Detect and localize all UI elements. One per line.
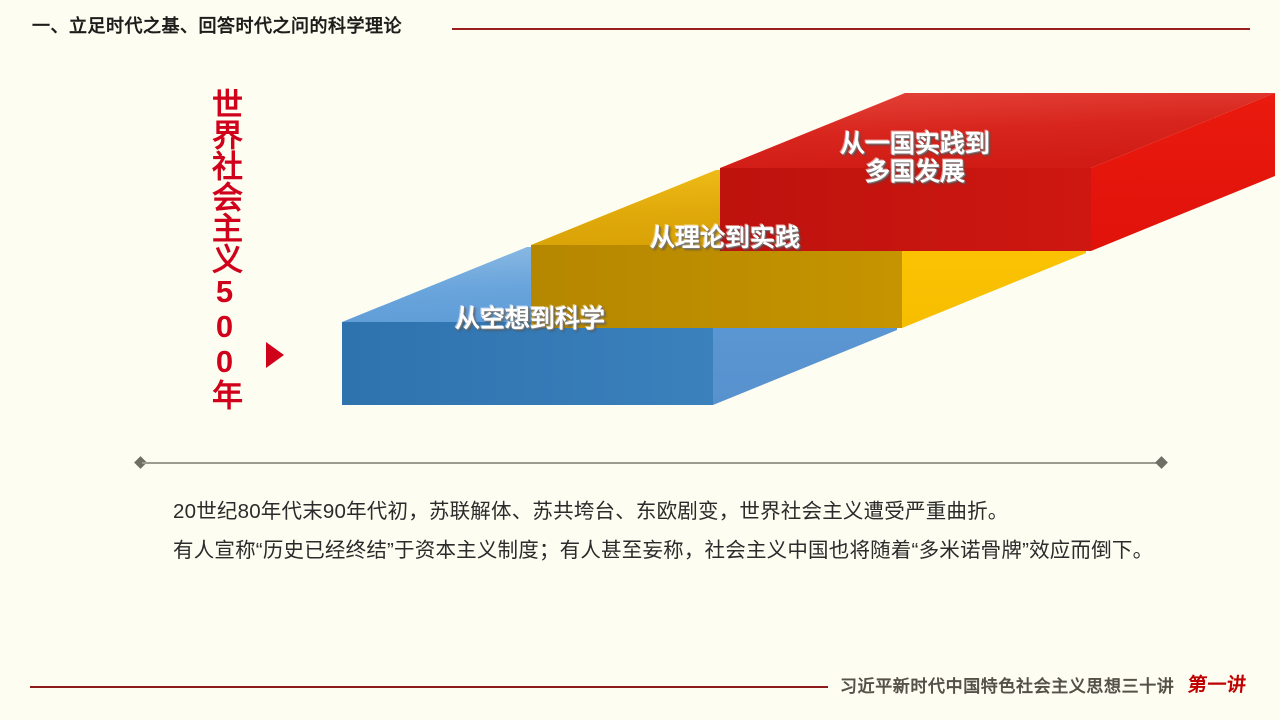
steps-diagram: 从空想到科学 从理论到实践 从一国实践到 多国发展 [0,0,1280,470]
step-blue-front-face [342,322,713,405]
slide-footer: 习近平新时代中国特色社会主义思想三十讲 第一讲 [0,672,1280,720]
body-paragraph-1: 20世纪80年代末90年代初，苏联解体、苏共垮台、东欧剧变，世界社会主义遭受严重… [132,492,1172,531]
footer-series-title: 习近平新时代中国特色社会主义思想三十讲 [840,672,1174,697]
footer-divider-line [30,686,828,688]
step-label-yellow: 从理论到实践 [590,224,860,252]
step-label-blue: 从空想到科学 [395,305,665,333]
section-divider [136,461,1166,464]
step-label-red: 从一国实践到 多国发展 [775,130,1055,186]
body-text: 20世纪80年代末90年代初，苏联解体、苏共垮台、东欧剧变，世界社会主义遭受严重… [132,492,1172,571]
divider-line [142,462,1160,464]
slide-canvas: 一、立足时代之基、回答时代之问的科学理论 世界社会主义500年 [0,0,1280,720]
body-paragraph-2: 有人宣称“历史已经终结”于资本主义制度；有人甚至妄称，社会主义中国也将随着“多米… [132,531,1172,570]
footer-lecture-badge: 第一讲 [1187,670,1248,697]
